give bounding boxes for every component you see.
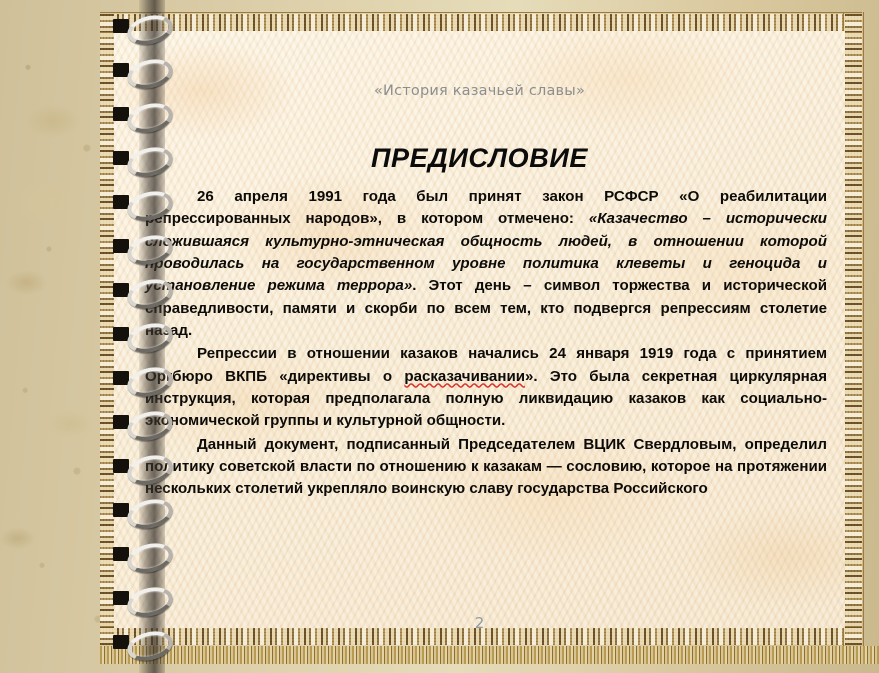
binding-ring bbox=[113, 192, 165, 214]
binding-ring bbox=[113, 412, 165, 434]
page-surface: «История казачьей славы» ПРЕДИСЛОВИЕ 26 … bbox=[114, 31, 845, 628]
binding-ring bbox=[113, 236, 165, 258]
binding-ring bbox=[113, 60, 165, 82]
ornament-border-top bbox=[100, 14, 862, 31]
binding-ring bbox=[113, 588, 165, 610]
notebook-slide: «История казачьей славы» ПРЕДИСЛОВИЕ 26 … bbox=[0, 0, 879, 673]
frame-hairline-top bbox=[100, 12, 862, 13]
page-body: 26 апреля 1991 года был принят закон РСФ… bbox=[145, 186, 827, 501]
binding-ring bbox=[113, 500, 165, 522]
ornament-fringe-bottom bbox=[100, 646, 879, 664]
ornament-border-right bbox=[845, 14, 862, 645]
binding-ring bbox=[113, 104, 165, 126]
binding-ring bbox=[113, 368, 165, 390]
paragraph-3: Данный документ, подписанный Председател… bbox=[145, 434, 827, 501]
binding-ring bbox=[113, 16, 165, 38]
paragraph-2: Репрессии в отношении казаков начались 2… bbox=[145, 343, 827, 432]
binding-ring bbox=[113, 148, 165, 170]
ornament-border-bottom bbox=[100, 628, 862, 645]
page-title: ПРЕДИСЛОВИЕ bbox=[114, 143, 845, 174]
binding-ring bbox=[113, 280, 165, 302]
binding-ring bbox=[113, 456, 165, 478]
binding-ring bbox=[113, 324, 165, 346]
binding-ring bbox=[113, 632, 165, 654]
binding-ring bbox=[113, 544, 165, 566]
spiral-binding bbox=[55, 0, 117, 673]
page-number: 2 bbox=[114, 614, 845, 628]
page-header: «История казачьей славы» bbox=[114, 83, 845, 99]
paragraph-1: 26 апреля 1991 года был принят закон РСФ… bbox=[145, 186, 827, 342]
frame-hairline-right-2 bbox=[863, 12, 864, 647]
spellcheck-flagged-word[interactable]: расказачивании bbox=[404, 368, 525, 385]
